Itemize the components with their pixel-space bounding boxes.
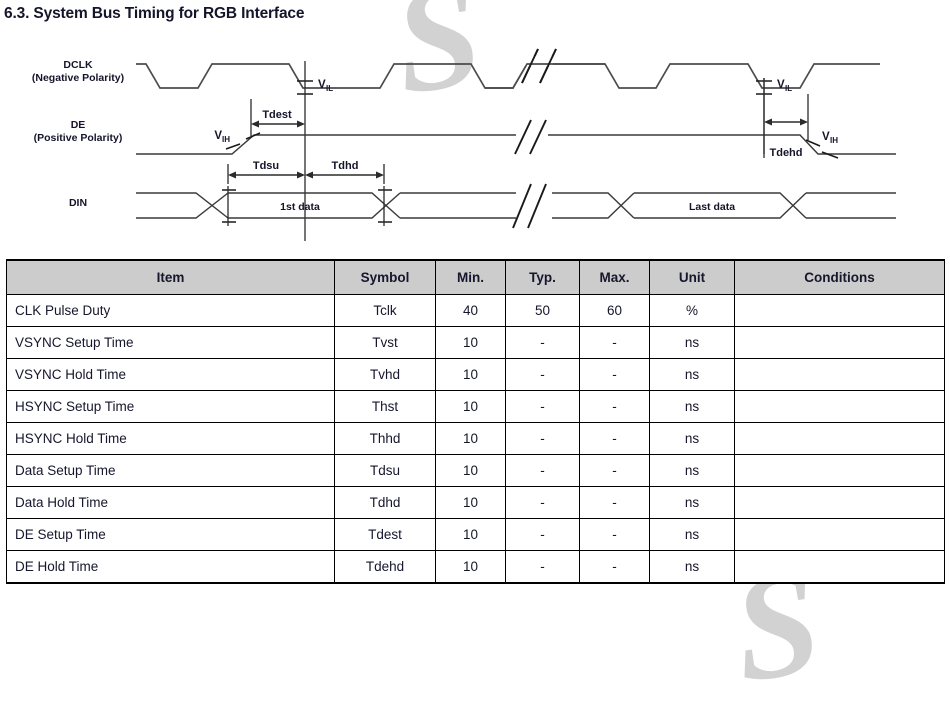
timing-diagram: DCLK (Negative Polarity) DE (Positive Po… — [0, 36, 950, 251]
cell-item: VSYNC Hold Time — [7, 359, 335, 391]
page-title: 6.3. System Bus Timing for RGB Interface — [4, 5, 304, 23]
cell-symbol: Tdhd — [335, 487, 436, 519]
signal-label-din: DIN — [69, 197, 87, 209]
cell-max: - — [580, 327, 650, 359]
cell-min: 40 — [436, 295, 506, 327]
cell-conditions — [735, 327, 945, 359]
cell-unit: ns — [650, 391, 735, 423]
tdhd-label: Tdhd — [332, 160, 359, 172]
cell-unit: ns — [650, 327, 735, 359]
column-header-min: Min. — [436, 260, 506, 295]
column-header-item: Item — [7, 260, 335, 295]
cell-symbol: Tvhd — [335, 359, 436, 391]
dim-tdest: Tdest — [251, 99, 305, 136]
cell-conditions — [735, 423, 945, 455]
cell-symbol: Tdest — [335, 519, 436, 551]
vil-subscript-left: IL — [326, 84, 333, 93]
tdehd-label: Tdehd — [770, 147, 803, 159]
table-row: HSYNC Setup TimeThst10--ns — [7, 391, 945, 423]
cell-conditions — [735, 391, 945, 423]
column-header-conditions: Conditions — [735, 260, 945, 295]
din-first-data-label: 1st data — [280, 201, 320, 213]
tdsu-label: Tdsu — [253, 160, 279, 172]
column-header-symbol: Symbol — [335, 260, 436, 295]
vih-marker-right: V IH — [822, 131, 838, 145]
cell-max: - — [580, 359, 650, 391]
cell-conditions — [735, 359, 945, 391]
table-row: Data Setup TimeTdsu10--ns — [7, 455, 945, 487]
signal-label-dclk: DCLK — [63, 59, 93, 71]
table-row: Data Hold TimeTdhd10--ns — [7, 487, 945, 519]
din-waveform — [136, 184, 896, 228]
dim-tdsu: Tdsu — [228, 160, 305, 184]
table-row: DE Setup TimeTdest10--ns — [7, 519, 945, 551]
cell-symbol: Tclk — [335, 295, 436, 327]
vil-label-right: V — [777, 79, 785, 91]
cell-unit: ns — [650, 359, 735, 391]
cell-item: DE Hold Time — [7, 551, 335, 584]
tdest-label: Tdest — [262, 109, 292, 121]
cell-typ: 50 — [506, 295, 580, 327]
vih-label-right: V — [822, 131, 830, 143]
cell-max: 60 — [580, 295, 650, 327]
cell-unit: ns — [650, 487, 735, 519]
signal-label-de-polarity: (Positive Polarity) — [34, 132, 123, 144]
column-header-max: Max. — [580, 260, 650, 295]
table-row: DE Hold TimeTdehd10--ns — [7, 551, 945, 584]
cell-unit: ns — [650, 519, 735, 551]
vih-subscript-left: IH — [222, 135, 230, 144]
cell-typ: - — [506, 519, 580, 551]
cell-typ: - — [506, 391, 580, 423]
vih-subscript-right: IH — [830, 136, 838, 145]
column-header-typ: Typ. — [506, 260, 580, 295]
signal-label-dclk-polarity: (Negative Polarity) — [32, 72, 124, 84]
cell-conditions — [735, 455, 945, 487]
cell-item: Data Hold Time — [7, 487, 335, 519]
cell-item: Data Setup Time — [7, 455, 335, 487]
cell-unit: % — [650, 295, 735, 327]
cell-item: HSYNC Hold Time — [7, 423, 335, 455]
cell-symbol: Thst — [335, 391, 436, 423]
cell-symbol: Tdsu — [335, 455, 436, 487]
column-header-unit: Unit — [650, 260, 735, 295]
cell-typ: - — [506, 327, 580, 359]
cell-max: - — [580, 455, 650, 487]
cell-max: - — [580, 423, 650, 455]
din-last-data-label: Last data — [689, 201, 735, 213]
cell-min: 10 — [436, 423, 506, 455]
cell-conditions — [735, 487, 945, 519]
vil-subscript-right: IL — [785, 84, 792, 93]
cell-conditions — [735, 519, 945, 551]
cell-max: - — [580, 519, 650, 551]
dim-tdhd: Tdhd — [305, 160, 384, 184]
cell-min: 10 — [436, 359, 506, 391]
cell-unit: ns — [650, 551, 735, 584]
cell-min: 10 — [436, 551, 506, 584]
cell-conditions — [735, 551, 945, 584]
cell-min: 10 — [436, 487, 506, 519]
spec-table-container: Item Symbol Min. Typ. Max. Unit Conditio… — [6, 259, 944, 584]
table-row: VSYNC Hold TimeTvhd10--ns — [7, 359, 945, 391]
cell-min: 10 — [436, 455, 506, 487]
cell-min: 10 — [436, 391, 506, 423]
cell-typ: - — [506, 487, 580, 519]
timing-spec-table: Item Symbol Min. Typ. Max. Unit Conditio… — [6, 259, 945, 584]
cell-symbol: Tdehd — [335, 551, 436, 584]
cell-unit: ns — [650, 423, 735, 455]
cell-item: DE Setup Time — [7, 519, 335, 551]
table-row: VSYNC Setup TimeTvst10--ns — [7, 327, 945, 359]
cell-unit: ns — [650, 455, 735, 487]
cell-min: 10 — [436, 519, 506, 551]
cell-item: VSYNC Setup Time — [7, 327, 335, 359]
cell-max: - — [580, 487, 650, 519]
cell-typ: - — [506, 423, 580, 455]
cell-symbol: Tvst — [335, 327, 436, 359]
cell-typ: - — [506, 359, 580, 391]
cell-min: 10 — [436, 327, 506, 359]
dclk-waveform — [136, 49, 880, 88]
table-header-row: Item Symbol Min. Typ. Max. Unit Conditio… — [7, 260, 945, 295]
cell-symbol: Thhd — [335, 423, 436, 455]
cell-conditions — [735, 295, 945, 327]
cell-max: - — [580, 391, 650, 423]
table-row: HSYNC Hold TimeThhd10--ns — [7, 423, 945, 455]
cell-item: CLK Pulse Duty — [7, 295, 335, 327]
cell-typ: - — [506, 455, 580, 487]
cell-item: HSYNC Setup Time — [7, 391, 335, 423]
vih-marker-left: V IH — [214, 130, 230, 144]
table-row: CLK Pulse DutyTclk405060% — [7, 295, 945, 327]
signal-label-de: DE — [71, 119, 86, 131]
vil-label-left: V — [318, 79, 326, 91]
cell-typ: - — [506, 551, 580, 584]
cell-max: - — [580, 551, 650, 584]
